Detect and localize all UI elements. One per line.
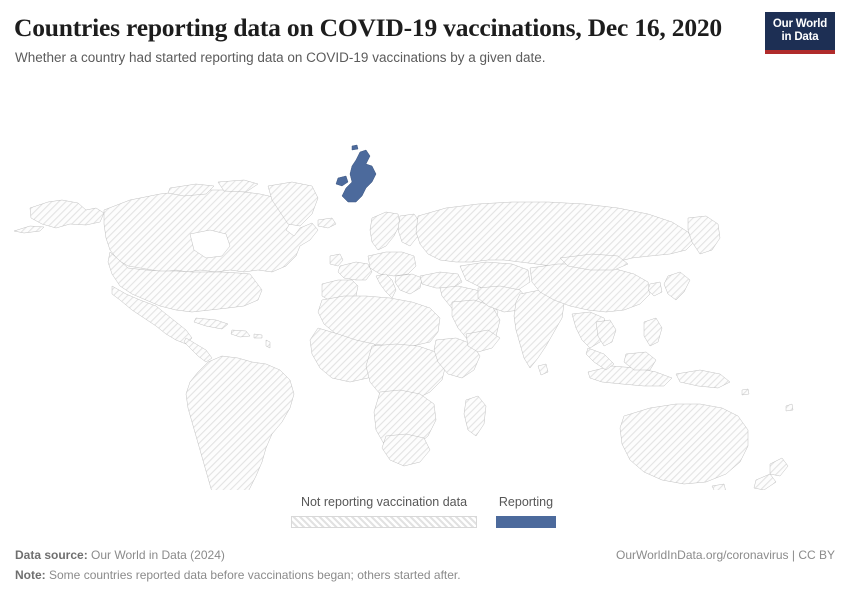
footer-note: Note: Some countries reported data befor…	[15, 568, 461, 582]
footer-source-value: Our World in Data (2024)	[88, 548, 225, 562]
country-france[interactable]	[338, 262, 372, 280]
country-philippines[interactable]	[644, 318, 662, 346]
country-central-america[interactable]	[184, 338, 212, 362]
map-countries-reporting[interactable]	[336, 145, 376, 202]
country-new-zealand[interactable]	[770, 458, 788, 476]
country-scandinavia[interactable]	[370, 212, 400, 250]
country-tasmania[interactable]	[712, 484, 726, 490]
country-india[interactable]	[514, 290, 564, 368]
chart-footer: Data source: Our World in Data (2024) No…	[0, 540, 850, 600]
island-fiji[interactable]	[786, 404, 793, 411]
country-new-guinea[interactable]	[676, 370, 730, 388]
footer-data-source: Data source: Our World in Data (2024)	[15, 548, 225, 562]
country-south-america[interactable]	[186, 356, 294, 490]
legend-entry-reporting[interactable]: Reporting	[496, 494, 556, 528]
country-northern-ireland[interactable]	[336, 176, 348, 186]
footer-note-value: Some countries reported data before vacc…	[46, 568, 461, 582]
country-iceland[interactable]	[318, 218, 336, 228]
country-puerto-rico[interactable]	[254, 334, 262, 338]
legend-entry-not-reporting[interactable]: Not reporting vaccination data	[291, 494, 477, 528]
footer-source-label: Data source:	[15, 548, 88, 562]
footer-link[interactable]: OurWorldInData.org/coronavirus | CC BY	[616, 548, 835, 562]
legend-swatch-reporting	[496, 516, 556, 528]
country-turkey[interactable]	[420, 272, 462, 288]
logo-line-2: in Data	[782, 31, 819, 44]
legend-label-reporting: Reporting	[496, 494, 556, 510]
map-countries-not-reporting[interactable]	[14, 180, 793, 490]
country-aleutians[interactable]	[14, 226, 44, 233]
country-united-kingdom[interactable]	[342, 150, 376, 202]
legend-label-not-reporting: Not reporting vaccination data	[291, 494, 477, 510]
island-scottish-isles[interactable]	[352, 145, 358, 150]
our-world-in-data-logo[interactable]: Our World in Data	[765, 12, 835, 54]
lesser-antilles[interactable]	[266, 340, 270, 348]
world-choropleth-map[interactable]	[0, 90, 850, 490]
country-far-east-russia[interactable]	[688, 216, 720, 254]
country-south-africa[interactable]	[382, 434, 430, 466]
country-new-zealand-south[interactable]	[754, 474, 776, 490]
map-legend: Not reporting vaccination data Reporting	[0, 494, 850, 532]
country-alaska[interactable]	[30, 200, 104, 228]
arctic-islands-2[interactable]	[218, 180, 258, 192]
country-japan[interactable]	[664, 272, 690, 300]
world-map-svg[interactable]	[0, 90, 850, 490]
country-central-europe[interactable]	[368, 252, 416, 276]
country-ireland[interactable]	[330, 254, 343, 266]
country-russia[interactable]	[416, 202, 694, 268]
country-indonesia[interactable]	[588, 366, 672, 386]
country-cuba[interactable]	[194, 318, 228, 329]
island-pacific-1[interactable]	[742, 389, 749, 395]
chart-subtitle: Whether a country had started reporting …	[15, 50, 546, 65]
country-australia[interactable]	[620, 404, 748, 484]
page-title: Countries reporting data on COVID-19 vac…	[14, 13, 722, 43]
footer-note-label: Note:	[15, 568, 46, 582]
country-madagascar[interactable]	[464, 396, 486, 436]
logo-line-1: Our World	[773, 18, 827, 31]
legend-swatch-not-reporting	[291, 516, 477, 528]
country-balkans[interactable]	[395, 274, 422, 294]
country-sumatra[interactable]	[586, 348, 614, 370]
country-sri-lanka[interactable]	[538, 364, 548, 375]
chart-header: Countries reporting data on COVID-19 vac…	[0, 0, 850, 88]
country-italy[interactable]	[376, 274, 396, 298]
country-hispaniola[interactable]	[231, 330, 250, 337]
